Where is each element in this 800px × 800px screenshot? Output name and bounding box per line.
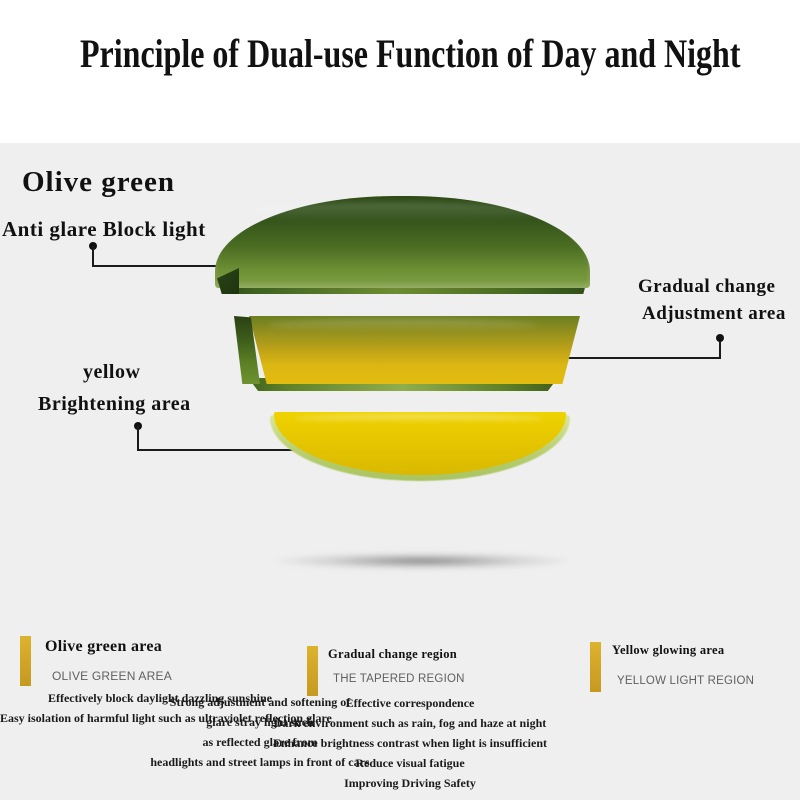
legend-accent-bar-3: [590, 642, 601, 692]
legend-title-3: Yellow glowing area: [612, 643, 724, 658]
lens-layer-olive-green: [215, 196, 590, 306]
title-band: Principle of Dual-use Function of Day an…: [0, 0, 800, 143]
infographic-page: Principle of Dual-use Function of Day an…: [0, 0, 800, 800]
ground-shadow: [272, 552, 572, 570]
leader-line-yellow-vertical: [137, 426, 139, 450]
legend-body-line: Improving Driving Safety: [0, 773, 800, 793]
legend-subtitle-3: YELLOW LIGHT REGION: [617, 675, 754, 687]
lens-layer-gradual-change: [228, 316, 580, 400]
callout-yellow-label-line2: Brightening area: [38, 393, 191, 416]
olive-green-surface: [215, 196, 590, 288]
legend-title-1: Olive green area: [45, 638, 162, 656]
olive-green-gloss: [243, 202, 543, 222]
legend-accent-bar-1: [20, 636, 31, 686]
callout-anti-glare-label: Anti glare Block light: [2, 217, 206, 242]
legend-subtitle-2: THE TAPERED REGION: [333, 673, 465, 685]
legend-accent-bar-2: [307, 646, 318, 696]
legend-section: Olive green area OLIVE GREEN AREA Effect…: [0, 620, 800, 800]
callout-yellow-label-line1: yellow: [83, 361, 140, 384]
legend-body-line: Dark environment such as rain, fog and h…: [0, 713, 800, 733]
legend-title-2: Gradual change region: [328, 647, 457, 662]
leader-dot-gradual-change: [716, 334, 724, 342]
legend-body-line: Reduce visual fatigue: [0, 753, 800, 773]
lens-layer-yellow: [270, 412, 570, 484]
callout-gradual-change-label-line1: Gradual change: [638, 276, 775, 298]
page-title: Principle of Dual-use Function of Day an…: [80, 30, 720, 77]
leader-line-anti-glare-vertical: [92, 246, 94, 267]
legend-body-3: Effective correspondence Dark environmen…: [0, 693, 800, 793]
callout-gradual-change-label-line2: Adjustment area: [642, 303, 786, 325]
legend-body-line: Effective correspondence: [0, 693, 800, 713]
yellow-gloss: [294, 414, 544, 423]
legend-subtitle-1: OLIVE GREEN AREA: [52, 669, 172, 683]
gradual-change-gloss: [268, 319, 538, 331]
legend-body-line: Enhance brightness contrast when light i…: [0, 733, 800, 753]
olive-green-heading: Olive green: [22, 166, 175, 199]
